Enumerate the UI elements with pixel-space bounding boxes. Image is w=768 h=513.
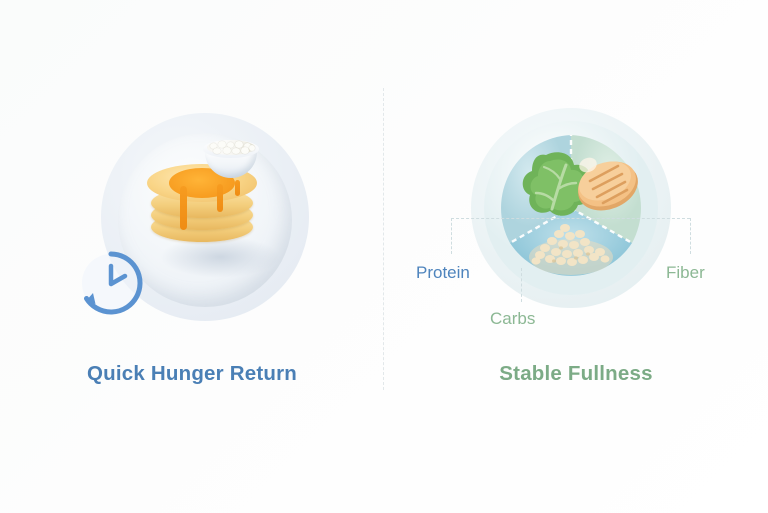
label-fiber: Fiber xyxy=(666,263,705,283)
illustration-canvas: Quick Hunger Return xyxy=(0,0,768,513)
leader-line-protein xyxy=(451,218,452,254)
right-caption: Stable Fullness xyxy=(384,362,768,386)
syrup-drip xyxy=(217,184,223,212)
leader-line-horizontal xyxy=(451,218,690,219)
leader-line-carbs xyxy=(521,268,522,302)
rice-bowl-icon xyxy=(203,134,259,178)
clock-refresh-icon xyxy=(74,246,148,320)
syrup-drip xyxy=(235,180,240,196)
rice-mound xyxy=(207,140,255,155)
left-caption: Quick Hunger Return xyxy=(0,362,384,386)
syrup-drip xyxy=(180,186,187,230)
left-panel: Quick Hunger Return xyxy=(0,0,384,513)
label-carbs: Carbs xyxy=(490,309,535,329)
leader-line-fiber xyxy=(690,218,691,254)
label-protein: Protein xyxy=(416,263,470,283)
balanced-plate-icon xyxy=(484,121,658,295)
